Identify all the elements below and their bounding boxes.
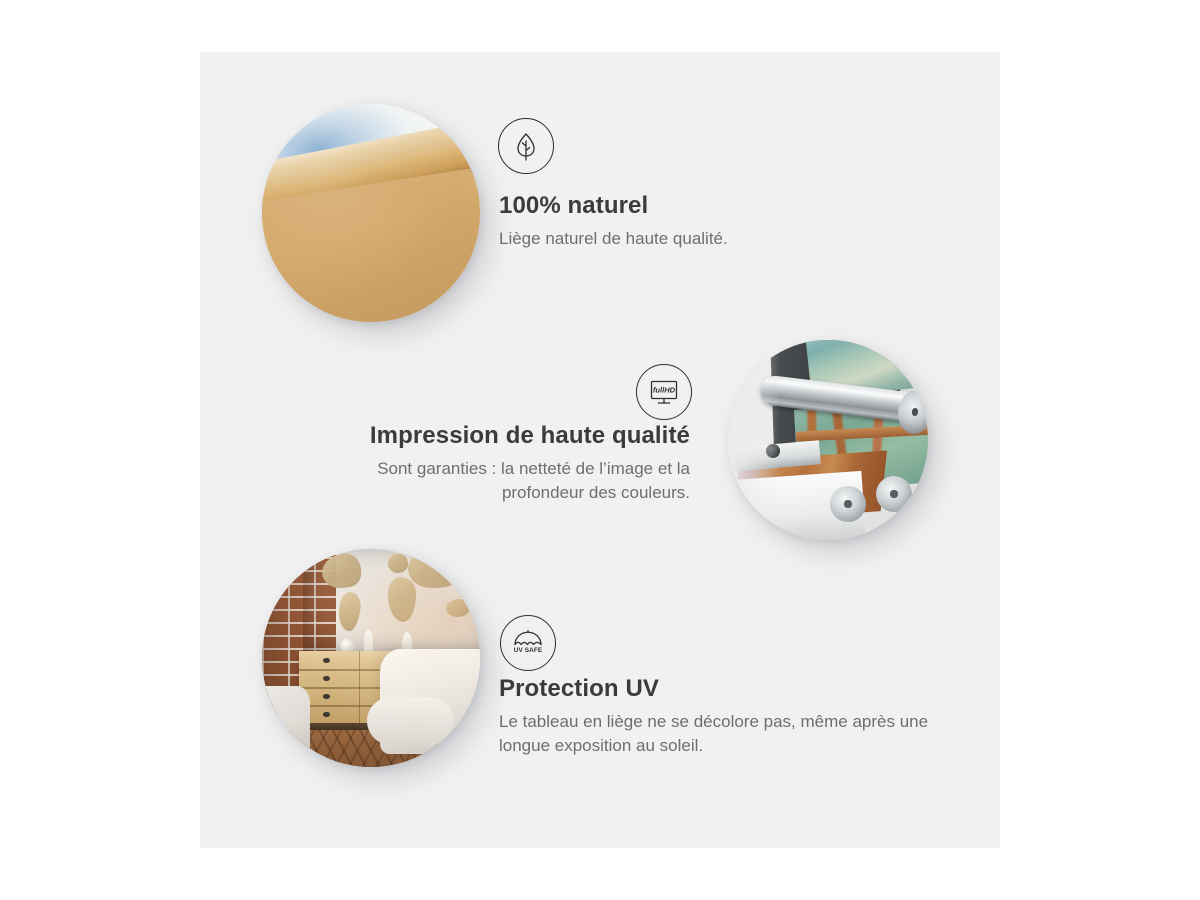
cork-board-macro-photo — [262, 104, 480, 322]
feature-body-print-quality: Sont garanties : la netteté de l’image e… — [310, 457, 690, 506]
uv-safe-umbrella-icon: UV SAFE — [500, 615, 556, 671]
photo-edge-fade — [728, 340, 780, 540]
uv-safe-icon-label: UV SAFE — [514, 647, 543, 654]
feature-text-natural: 100% naturel Liège naturel de haute qual… — [499, 192, 919, 251]
fullhd-icon-label: fullHD — [653, 386, 676, 395]
printing-machine-photo — [728, 340, 928, 540]
feature-body-natural: Liège naturel de haute qualité. — [499, 227, 919, 252]
product-feature-infographic: 100% naturel Liège naturel de haute qual… — [0, 0, 1200, 900]
feature-text-print-quality: Impression de haute qualité Sont garanti… — [310, 422, 690, 506]
content-panel: 100% naturel Liège naturel de haute qual… — [200, 52, 1000, 848]
photo-base-wheel — [830, 486, 866, 522]
living-room-world-map-photo — [262, 549, 480, 767]
leaf-icon — [498, 118, 554, 174]
fullhd-monitor-icon: fullHD — [636, 364, 692, 420]
photo-room-lighting — [262, 549, 480, 767]
feature-heading-uv-protection: Protection UV — [499, 675, 929, 704]
photo-base-wheel — [876, 476, 912, 512]
feature-body-uv-protection: Le tableau en liège ne se décolore pas, … — [499, 710, 929, 759]
feature-text-uv-protection: Protection UV Le tableau en liège ne se … — [499, 675, 929, 759]
photo-lighting-overlay — [262, 104, 480, 322]
feature-heading-natural: 100% naturel — [499, 192, 919, 221]
feature-heading-print-quality: Impression de haute qualité — [310, 422, 690, 451]
